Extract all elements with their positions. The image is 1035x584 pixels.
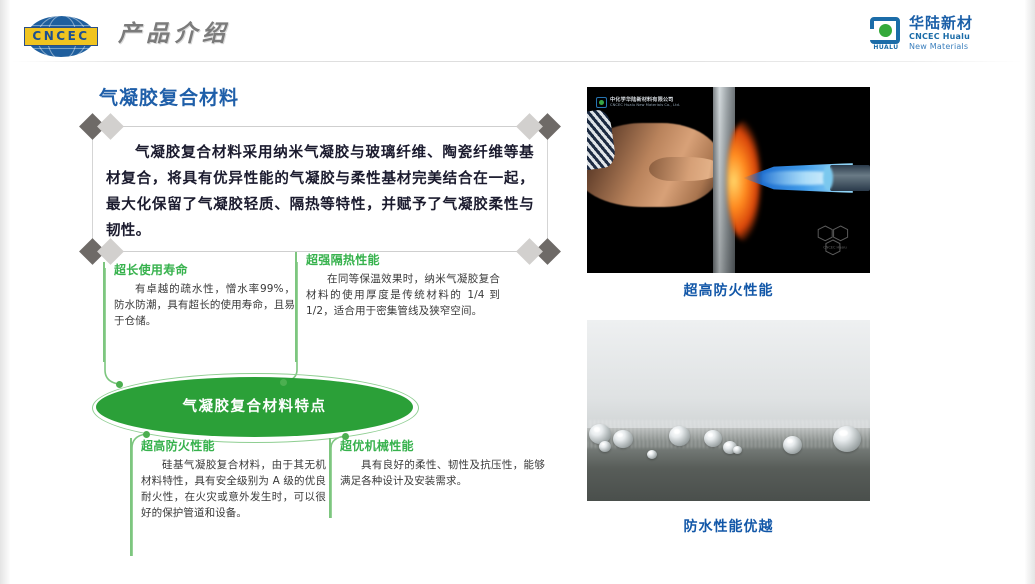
cncec-logo: CNCEC bbox=[24, 14, 98, 59]
fire-test-caption: 超高防火性能 bbox=[587, 281, 870, 301]
center-ellipse-label: 气凝胶复合材料特点 bbox=[183, 397, 327, 417]
diamond-icon-top-left-light bbox=[97, 113, 124, 140]
water-droplet bbox=[613, 430, 633, 448]
hualu-mark-icon: HUALU bbox=[869, 17, 903, 49]
feature-body-1: 有卓越的疏水性，憎水率99%，防水防潮，具有超长的使用寿命，且易于仓储。 bbox=[114, 281, 295, 329]
slide-header: CNCEC 产品介绍 HUALU 华陆新材 CNCEC Hualu New Ma… bbox=[0, 0, 1035, 62]
water-droplet bbox=[783, 436, 802, 454]
hualu-logo: HUALU 华陆新材 CNCEC Hualu New Materials bbox=[869, 12, 1017, 54]
water-droplet bbox=[704, 430, 722, 447]
photo-background bbox=[587, 320, 870, 432]
page-title: 产品介绍 bbox=[118, 20, 230, 48]
features-diagram: 气凝胶复合材料特点 超长使用寿命 有卓越的疏水性，憎水率99%，防水防潮，具有超… bbox=[92, 262, 562, 562]
slide-canvas: CNCEC 产品介绍 HUALU 华陆新材 CNCEC Hualu New Ma… bbox=[0, 0, 1035, 584]
feature-accent-bar-4 bbox=[329, 438, 331, 518]
center-ellipse: 气凝胶复合材料特点 bbox=[97, 378, 412, 436]
diamond-icon-top-right-light bbox=[516, 113, 543, 140]
feature-accent-bar-3 bbox=[130, 438, 132, 556]
water-droplet bbox=[733, 446, 742, 454]
corner-stamp-icon: CNCEC Hualu bbox=[814, 223, 856, 257]
finger-illustration bbox=[649, 157, 723, 181]
water-droplet bbox=[669, 426, 690, 446]
feature-body-3: 硅基气凝胶复合材料，由于其无机材料特性，具有安全级别为 A 级的优良耐火性，在火… bbox=[141, 457, 326, 521]
waterproof-caption: 防水性能优越 bbox=[587, 517, 870, 537]
feature-body-4: 具有良好的柔性、韧性及抗压性，能够满足各种设计及安装需求。 bbox=[340, 457, 545, 489]
feature-title-2: 超强隔热性能 bbox=[306, 252, 500, 268]
feature-card-4: 超优机械性能 具有良好的柔性、韧性及抗压性，能够满足各种设计及安装需求。 bbox=[329, 438, 545, 518]
cncec-logo-text: CNCEC bbox=[25, 28, 97, 45]
quote-border-top bbox=[114, 126, 526, 127]
hualu-mark-label: HUALU bbox=[869, 44, 903, 51]
water-droplet bbox=[599, 441, 611, 452]
feature-accent-bar-1 bbox=[103, 262, 105, 362]
connector-node-2 bbox=[280, 379, 287, 386]
svg-text:CNCEC Hualu: CNCEC Hualu bbox=[823, 245, 846, 249]
fire-test-photo: 中化学华陆新材料有限公司 CNCEC Hualu New Materials C… bbox=[587, 87, 870, 273]
header-divider bbox=[12, 61, 1023, 62]
hualu-brand-cn: 华陆新材 bbox=[909, 15, 973, 32]
water-droplet bbox=[647, 450, 657, 459]
sleeve-cuff bbox=[587, 108, 617, 171]
right-rail bbox=[1025, 0, 1035, 584]
watermark-text-en: CNCEC Hualu New Materials Co., Ltd. bbox=[610, 103, 680, 108]
section-title: 气凝胶复合材料 bbox=[99, 86, 239, 111]
feature-body-2: 在同等保温效果时，纳米气凝胶复合材料的使用厚度是传统材料的 1/4 到 1/2，… bbox=[306, 271, 500, 319]
quote-border-left bbox=[92, 136, 93, 242]
feature-card-3: 超高防火性能 硅基气凝胶复合材料，由于其无机材料特性，具有安全级别为 A 级的优… bbox=[130, 438, 326, 556]
connector-node-3 bbox=[143, 431, 150, 438]
hualu-brand-en-2: New Materials bbox=[909, 42, 973, 52]
water-droplet bbox=[833, 426, 861, 452]
intro-quote-box: 气凝胶复合材料采用纳米气凝胶与玻璃纤维、陶瓷纤维等基材复合，将具有优异性能的气凝… bbox=[92, 126, 548, 252]
feature-card-2: 超强隔热性能 在同等保温效果时，纳米气凝胶复合材料的使用厚度是传统材料的 1/4… bbox=[295, 252, 500, 362]
torch-nozzle bbox=[830, 165, 870, 191]
feature-accent-bar-2 bbox=[295, 252, 297, 362]
left-rail bbox=[0, 0, 10, 584]
photo-watermark: 中化学华陆新材料有限公司 CNCEC Hualu New Materials C… bbox=[596, 97, 680, 108]
connector-node-1 bbox=[116, 381, 123, 388]
feature-title-4: 超优机械性能 bbox=[340, 438, 545, 454]
cncec-logo-band: CNCEC bbox=[24, 27, 98, 46]
waterproof-photo bbox=[587, 320, 870, 501]
intro-quote-text: 气凝胶复合材料采用纳米气凝胶与玻璃纤维、陶瓷纤维等基材复合，将具有优异性能的气凝… bbox=[106, 140, 534, 244]
quote-border-right bbox=[547, 136, 548, 242]
feature-title-1: 超长使用寿命 bbox=[114, 262, 295, 278]
feature-title-3: 超高防火性能 bbox=[141, 438, 326, 454]
watermark-mark-icon bbox=[596, 97, 607, 108]
hualu-brand-en-1: CNCEC Hualu bbox=[909, 32, 973, 42]
feature-card-1: 超长使用寿命 有卓越的疏水性，憎水率99%，防水防潮，具有超长的使用寿命，且易于… bbox=[103, 262, 295, 362]
